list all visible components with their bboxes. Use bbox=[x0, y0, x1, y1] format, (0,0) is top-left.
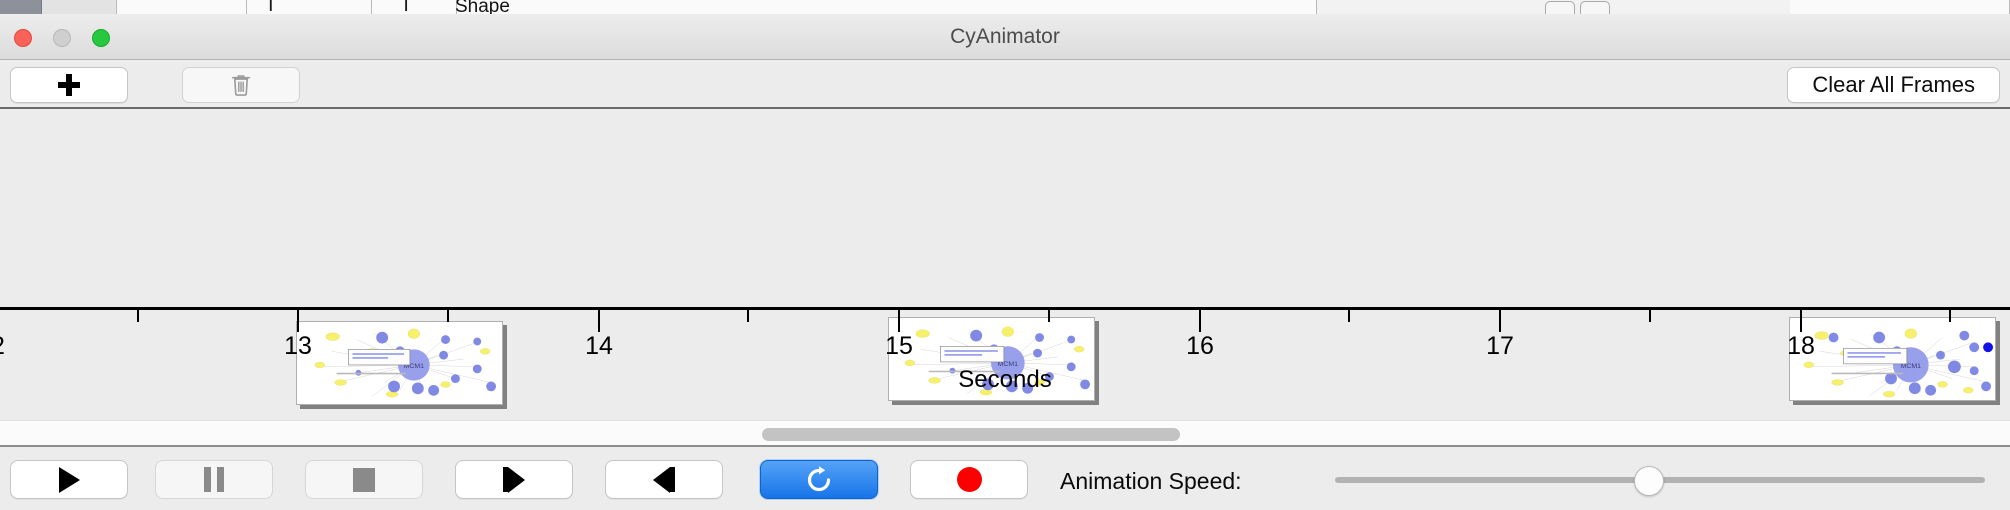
window-title: CyAnimator bbox=[0, 14, 2010, 59]
bg-tab-7 bbox=[1790, 0, 2010, 14]
tick-minor bbox=[447, 310, 449, 322]
record-button[interactable] bbox=[910, 460, 1028, 499]
tick-major bbox=[898, 310, 900, 332]
stop-button[interactable] bbox=[305, 460, 423, 499]
trash-icon bbox=[230, 73, 252, 97]
bg-glyph-1: I bbox=[268, 0, 274, 14]
delete-frame-button[interactable] bbox=[182, 67, 300, 103]
plus-icon bbox=[58, 74, 80, 96]
tick-minor bbox=[1949, 310, 1951, 322]
stop-icon bbox=[353, 468, 375, 492]
bg-tab-5 bbox=[372, 0, 457, 14]
play-icon bbox=[59, 467, 80, 493]
tick-minor bbox=[137, 310, 139, 322]
transport-bar: Animation Speed: bbox=[0, 449, 2010, 510]
timeline-scrollbar[interactable] bbox=[0, 420, 2010, 447]
pause-button[interactable] bbox=[155, 460, 273, 499]
skip-start-icon bbox=[503, 467, 525, 493]
bg-tab-4 bbox=[247, 0, 372, 14]
skip-end-icon bbox=[653, 467, 675, 493]
bg-round-2 bbox=[1580, 1, 1610, 14]
scrollbar-thumb[interactable] bbox=[762, 428, 1180, 441]
bg-tab-2 bbox=[42, 0, 117, 14]
tick-minor bbox=[747, 310, 749, 322]
tick-major bbox=[1499, 310, 1501, 332]
animation-speed-label: Animation Speed: bbox=[1060, 468, 1242, 495]
bg-tab-1 bbox=[0, 0, 42, 14]
tick-major bbox=[598, 310, 600, 332]
slider-thumb[interactable] bbox=[1634, 466, 1664, 496]
bg-tab-6 bbox=[457, 0, 1317, 14]
bg-tab-3 bbox=[117, 0, 247, 14]
clear-all-frames-button[interactable]: Clear All Frames bbox=[1787, 67, 2000, 103]
cyanimator-window: I T Shape CyAnimator Clear All Frames bbox=[0, 0, 2010, 510]
tick-label: 13 bbox=[284, 332, 312, 361]
tick-label: 15 bbox=[885, 332, 913, 361]
tick-minor bbox=[1649, 310, 1651, 322]
play-button[interactable] bbox=[10, 460, 128, 499]
add-frame-button[interactable] bbox=[10, 67, 128, 103]
tick-label: 2 bbox=[0, 332, 5, 361]
tick-minor bbox=[1348, 310, 1350, 322]
axis-title: Seconds bbox=[0, 366, 2010, 394]
bg-glyph-2: T bbox=[400, 0, 412, 14]
tick-major bbox=[297, 310, 299, 332]
timeline-panel[interactable]: MCM1 bbox=[0, 111, 2010, 420]
tick-major bbox=[1199, 310, 1201, 332]
skip-to-end-button[interactable] bbox=[605, 460, 723, 499]
pause-icon bbox=[204, 467, 224, 492]
tick-minor bbox=[1048, 310, 1050, 322]
background-window-strip: I T Shape bbox=[0, 0, 2010, 14]
loop-button[interactable] bbox=[760, 460, 878, 499]
bg-window-label: Shape bbox=[455, 0, 510, 14]
loop-icon bbox=[804, 465, 834, 495]
record-icon bbox=[957, 467, 982, 492]
bg-round-1 bbox=[1545, 1, 1575, 14]
tick-label: 14 bbox=[585, 332, 613, 361]
tick-label: 18 bbox=[1787, 332, 1815, 361]
animation-speed-slider[interactable] bbox=[1335, 477, 1985, 483]
skip-to-start-button[interactable] bbox=[455, 460, 573, 499]
tick-label: 17 bbox=[1486, 332, 1514, 361]
timeline-axis bbox=[0, 307, 2010, 310]
tick-label: 16 bbox=[1186, 332, 1214, 361]
tick-major bbox=[1800, 310, 1802, 332]
title-bar: CyAnimator bbox=[0, 14, 2010, 60]
toolbar: Clear All Frames bbox=[0, 60, 2010, 109]
